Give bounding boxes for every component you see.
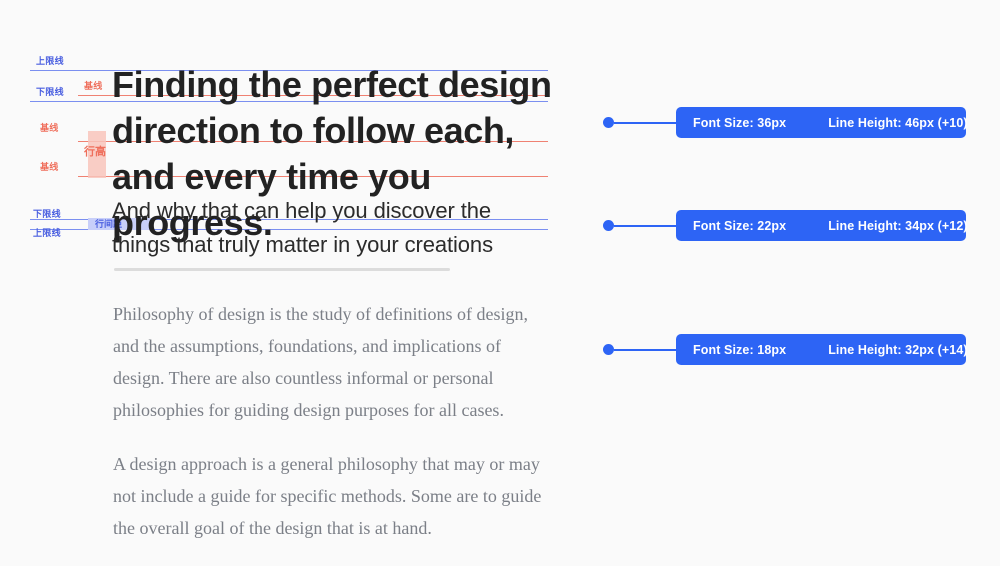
line-height-value: Line Height: 32px (+14): [828, 343, 967, 357]
subhead-callout: Font Size: 22pxLine Height: 34px (+12): [603, 210, 966, 241]
guide-label-headline-ascender: 上限线: [36, 57, 64, 66]
line-height-label: 行高: [84, 147, 106, 158]
font-size-value: Font Size: 36px: [693, 116, 786, 130]
callout-badge[interactable]: Font Size: 22pxLine Height: 34px (+12): [676, 210, 966, 241]
body-copy: Philosophy of design is the study of def…: [113, 298, 553, 566]
body-paragraph: Philosophy of design is the study of def…: [113, 298, 553, 426]
font-size-value: Font Size: 18px: [693, 343, 786, 357]
guide-label-subhead-ascender: 上限线: [33, 229, 61, 238]
body-callout: Font Size: 18pxLine Height: 32px (+14): [603, 334, 966, 365]
callout-leader-line: [614, 122, 676, 124]
callout-leader-line: [614, 225, 676, 227]
callout-leader-line: [614, 349, 676, 351]
subheading-text: And why that can help you discover the t…: [112, 194, 552, 262]
section-divider: [114, 268, 450, 271]
typography-spec-canvas: 上限线基线下限线基线基线下限线上限线 行高 行间距 Finding the pe…: [0, 0, 1000, 557]
guide-label-subhead-descender: 下限线: [33, 210, 61, 219]
callout-badge[interactable]: Font Size: 36pxLine Height: 46px (+10): [676, 107, 966, 138]
callout-anchor-dot-icon: [603, 117, 614, 128]
callout-badge[interactable]: Font Size: 18pxLine Height: 32px (+14): [676, 334, 966, 365]
guide-label-headline-descender: 下限线: [36, 88, 64, 97]
guide-label-headline-baseline-2: 基线: [40, 124, 59, 133]
callout-anchor-dot-icon: [603, 344, 614, 355]
font-size-value: Font Size: 22px: [693, 219, 786, 233]
line-height-value: Line Height: 34px (+12): [828, 219, 967, 233]
guide-label-headline-baseline-1: 基线: [84, 82, 103, 91]
callout-anchor-dot-icon: [603, 220, 614, 231]
line-height-value: Line Height: 46px (+10): [828, 116, 967, 130]
body-paragraph: A design approach is a general philosoph…: [113, 448, 553, 544]
headline-callout: Font Size: 36pxLine Height: 46px (+10): [603, 107, 966, 138]
guide-label-headline-baseline-3: 基线: [40, 163, 59, 172]
